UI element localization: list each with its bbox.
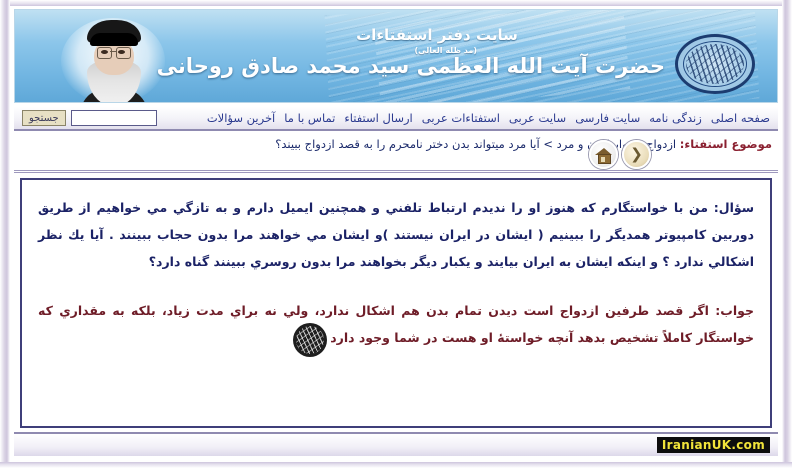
search-area: جستجو [14,110,157,126]
sidebar-item-latest-questions[interactable]: آخرین سؤالات [207,107,275,129]
question-paragraph: سؤال: من با خواستگارم که هنوز او را ندید… [38,194,754,275]
answer-label: جواب: [715,303,754,318]
estefta-content-panel: سؤال: من با خواستگارم که هنوز او را ندید… [20,178,772,428]
home-icon[interactable] [589,140,618,169]
search-button[interactable]: جستجو [22,110,66,126]
answer-body: اگر قصد طرفین ازدواج است دیدن تمام بدن ه… [38,303,754,345]
sidebar-item-contact-us[interactable]: تماس با ما [284,107,335,129]
breadcrumb-text: موضوع استفتاء: ازدواج و روابط زن و مرد >… [172,137,772,152]
top-decorative-strip [0,0,792,6]
portrait-turban [87,20,141,44]
portrait [55,12,171,103]
seal-ink [686,44,744,84]
left-rail [0,0,10,468]
watermark: IranianUK.com [657,437,770,453]
back-arrow-glyph: ❮ [630,147,643,162]
signature-stamp-icon [293,323,327,357]
back-arrow-icon[interactable]: ❮ [622,140,651,169]
breadcrumb-icons: ❮ [589,140,651,169]
portrait-glasses-bridge [110,51,116,52]
sidebar-item-arabic-site[interactable]: سایت عربی [509,107,566,129]
home-icon-house [595,148,612,162]
breadcrumb: موضوع استفتاء: ازدواج و روابط زن و مرد >… [14,135,778,173]
sidebar-item-biography[interactable]: زندگی نامه [649,107,702,129]
site-footer: IranianUK.com [14,432,778,456]
calligraphy-seal-icon [675,34,755,94]
sidebar-item-home[interactable]: صفحه اصلی [711,107,770,129]
portrait-figure [81,20,147,103]
bottom-decorative-strip [0,462,792,468]
signature-stamp-ink [296,326,324,354]
home-icon-door [601,157,605,162]
question-answer-block: سؤال: من با خواستگارم که هنوز او را ندید… [38,194,754,351]
site-header-banner: سایت دفتر استفتاءات (مد ظله العالی) حضرت… [14,9,778,103]
answer-paragraph: جواب: اگر قصد طرفین ازدواج است دیدن تمام… [38,297,754,351]
site-title-line2: حضرت آیت الله العظمی سید محمد صادق روحان… [215,54,665,78]
navigation-bar: صفحه اصلی زندگی نامه سایت فارسی سایت عرب… [14,107,778,131]
portrait-glasses-right [116,47,131,59]
site-title-line1: سایت دفتر استفتاءات [217,26,657,44]
sidebar-item-arabic-estefta[interactable]: استفتاءات عربی [422,107,500,129]
right-rail [782,0,792,468]
breadcrumb-label: موضوع استفتاء: [680,137,772,151]
question-body: من با خواستگارم که هنوز او را ندیدم ارتب… [38,200,754,269]
search-input[interactable] [71,110,157,126]
question-label: سؤال: [714,200,754,215]
sidebar-item-send-question[interactable]: ارسال استفتاء [344,107,412,129]
nav-links: صفحه اصلی زندگی نامه سایت فارسی سایت عرب… [157,107,778,129]
portrait-glasses-left [97,47,112,59]
page-root: سایت دفتر استفتاءات (مد ظله العالی) حضرت… [0,0,792,468]
sidebar-item-persian-site[interactable]: سایت فارسی [575,107,640,129]
